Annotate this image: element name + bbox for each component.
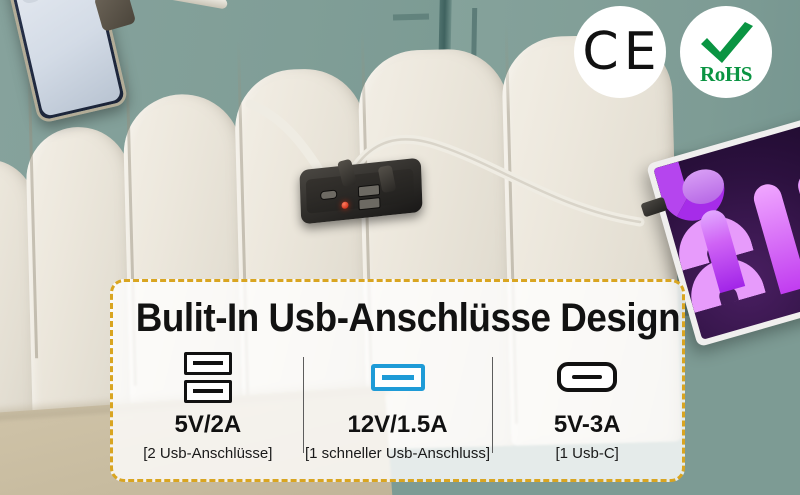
usb-a-stack (184, 352, 232, 403)
spec-note: [1 schneller Usb-Anschluss] (305, 445, 490, 462)
spec-note: [1 Usb-C] (556, 445, 619, 462)
usb-a-icon-bar (193, 361, 223, 365)
rohs-badge: RoHS (680, 6, 772, 98)
page-title: Bulit-In Usb-Anschlüsse Design (136, 296, 659, 341)
spec-item-usb-a-fast: 12V/1.5A [1 schneller Usb-Anschluss] (303, 351, 493, 462)
ce-badge: CE (574, 6, 666, 98)
usb-a-icon-bar (193, 389, 223, 393)
usb-a-fast-icon (371, 351, 425, 403)
usb-c-icon (557, 351, 617, 403)
usb-a-icon (184, 380, 232, 403)
spec-value: 12V/1.5A (347, 411, 447, 439)
usb-c-icon-bar (572, 375, 602, 379)
feature-callout-panel: Bulit-In Usb-Anschlüsse Design 5V/2A [2 … (110, 279, 685, 482)
spec-item-usb-a-double: 5V/2A [2 Usb-Anschlüsse] (113, 351, 303, 462)
spec-value: 5V-3A (554, 411, 621, 439)
spec-item-usb-c: 5V-3A [1 Usb-C] (492, 351, 682, 462)
power-indicator-led (341, 201, 348, 209)
usb-a-double-icon (184, 351, 232, 403)
rohs-badge-content: RoHS (695, 20, 757, 87)
app-icon (18, 0, 42, 5)
certification-badges: CE RoHS (574, 6, 772, 98)
rohs-label: RoHS (700, 62, 752, 87)
spec-value: 5V/2A (174, 411, 241, 439)
usb-c-shape (557, 362, 617, 392)
usb-a-icon-bar (382, 375, 414, 380)
usb-a-icon (184, 352, 232, 375)
hub-face (306, 168, 415, 213)
rohs-checkmark-icon (695, 20, 757, 66)
ce-mark-icon: CE (582, 26, 661, 78)
spec-list: 5V/2A [2 Usb-Anschlüsse] 12V/1.5A [1 sch… (113, 351, 682, 462)
spec-note: [2 Usb-Anschlüsse] (143, 445, 272, 462)
hub-usb-a-port (358, 184, 380, 197)
hub-usb-c-port (320, 190, 337, 201)
usb-a-icon (371, 364, 425, 391)
hub-usb-a-port (358, 197, 380, 210)
product-feature-image: CE RoHS Bulit-In Usb-Anschlüsse Design (0, 0, 800, 495)
